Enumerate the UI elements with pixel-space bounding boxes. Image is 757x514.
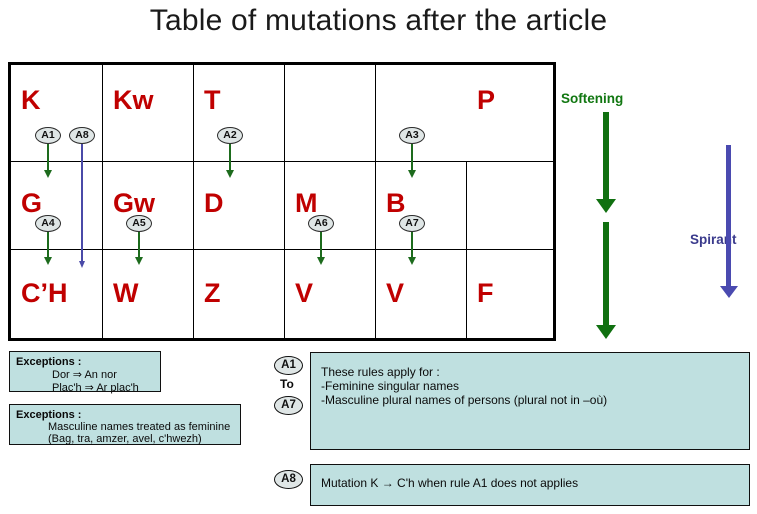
mutation-arrow-a6	[320, 232, 322, 258]
mutation-arrow-a5	[138, 232, 140, 258]
table-cell-r1c4	[284, 65, 375, 161]
rule-badge-a3[interactable]: A3	[399, 127, 425, 144]
table-row: C’H W Z V V F	[11, 249, 553, 340]
cell-letter: K	[21, 87, 41, 114]
to-label: To	[280, 377, 294, 391]
rules-box: These rules apply for : -Feminine singul…	[310, 352, 750, 450]
rule-badge-a6[interactable]: A6	[308, 215, 334, 232]
cell-letter: T	[204, 87, 221, 114]
cell-letter: Z	[204, 280, 221, 307]
cell-letter: V	[295, 280, 313, 307]
table-row: K Kw T P	[11, 65, 553, 161]
table-cell-r2c3: D	[193, 162, 284, 249]
table-cell-r3c3: Z	[193, 250, 284, 340]
rule-badge-a4[interactable]: A4	[35, 215, 61, 232]
table-cell-r3c5: V	[375, 250, 466, 340]
rule-badge-a8[interactable]: A8	[69, 127, 95, 144]
a8-text: Mutation K → C'h when rule A1 does not a…	[321, 476, 739, 490]
table-cell-r3c2: W	[102, 250, 193, 340]
table-cell-r2c4: M	[284, 162, 375, 249]
cell-letter: V	[386, 280, 404, 307]
cell-letter: M	[295, 190, 318, 217]
cell-letter: G	[21, 190, 42, 217]
cell-letter: C’H	[21, 280, 68, 307]
mutation-arrow-a4	[47, 232, 49, 258]
table-cell-r2c2: Gw	[102, 162, 193, 249]
table-cell-r1c1: K	[11, 65, 102, 161]
cell-letter: Gw	[113, 190, 155, 217]
rule-badge-a7-ref[interactable]: A7	[274, 396, 303, 415]
mutation-arrow-a7	[411, 232, 413, 258]
table-cell-r3c1: C’H	[11, 250, 102, 340]
cell-letter: D	[204, 190, 224, 217]
table-cell-r2c5: B	[375, 162, 466, 249]
cell-letter: B	[386, 190, 406, 217]
mutation-arrow-a2	[229, 144, 231, 171]
table-cell-r1c5-wide: P	[375, 65, 553, 161]
exceptions-box-2: Exceptions : Masculine names treated as …	[9, 404, 241, 445]
rules-heading: These rules apply for :	[321, 365, 739, 379]
exceptions-2-line-2: (Bag, tra, amzer, avel, c'hwezh)	[16, 433, 234, 445]
mutation-arrow-a8	[81, 144, 83, 262]
softening-arrow-lower	[603, 222, 609, 326]
rule-badge-a7[interactable]: A7	[399, 215, 425, 232]
table-cell-r3c4: V	[284, 250, 375, 340]
mutation-table: K Kw T P G Gw D M B	[8, 62, 556, 341]
table-cell-r1c2: Kw	[102, 65, 193, 161]
rules-line-2: -Masculine plural names of persons (plur…	[321, 393, 739, 407]
exceptions-1-line-1: Dor ⇒ An nor	[16, 368, 154, 381]
exceptions-1-line-2: Plac'h ⇒ Ar plac'h	[16, 381, 154, 394]
a8-box: Mutation K → C'h when rule A1 does not a…	[310, 464, 750, 506]
cell-letter: F	[477, 280, 494, 307]
table-cell-r3c6: F	[466, 250, 553, 340]
rule-badge-a2[interactable]: A2	[217, 127, 243, 144]
table-cell-r2c6	[466, 162, 553, 249]
table-cell-r1c3: T	[193, 65, 284, 161]
table-row: G Gw D M B	[11, 161, 553, 249]
softening-arrow-upper	[603, 112, 609, 200]
softening-label: Softening	[561, 91, 623, 106]
spirant-arrow	[726, 145, 731, 287]
table-cell-r2c1: G	[11, 162, 102, 249]
exceptions-2-title: Exceptions :	[16, 409, 234, 421]
exceptions-1-title: Exceptions :	[16, 356, 154, 368]
cell-letter: W	[113, 280, 138, 307]
page-title: Table of mutations after the article	[0, 4, 757, 38]
rule-badge-a5[interactable]: A5	[126, 215, 152, 232]
rules-line-1: -Feminine singular names	[321, 379, 739, 393]
mutation-arrow-a1	[47, 144, 49, 171]
rule-badge-a1[interactable]: A1	[35, 127, 61, 144]
exceptions-2-line-1: Masculine names treated as feminine	[16, 421, 234, 433]
rule-badge-a1-ref[interactable]: A1	[274, 356, 303, 375]
cell-letter: Kw	[113, 87, 154, 114]
cell-letter: P	[477, 87, 495, 114]
mutation-arrow-a3	[411, 144, 413, 171]
rule-badge-a8-ref[interactable]: A8	[274, 470, 303, 489]
exceptions-box-1: Exceptions : Dor ⇒ An nor Plac'h ⇒ Ar pl…	[9, 351, 161, 392]
